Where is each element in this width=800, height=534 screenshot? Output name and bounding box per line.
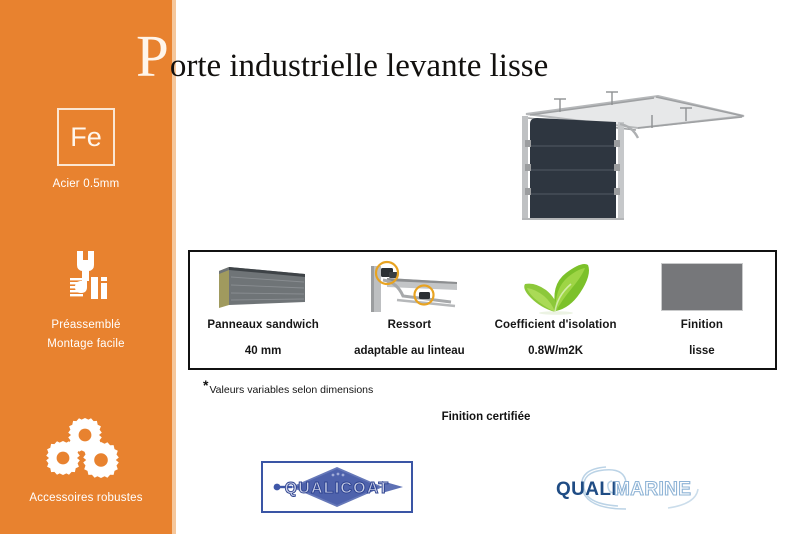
qualicoat-logo: QUALICOAT <box>261 461 413 513</box>
page-title-initial: P <box>136 28 169 84</box>
qualimarine-logo: QUALI MARINE <box>548 466 714 512</box>
qualimarine-word-2: MARINE <box>614 479 691 500</box>
sidebar-feature-steel-label: Acier 0.5mm <box>0 175 172 194</box>
sidebar-feature-preassembled-label-2: Montage facile <box>0 335 172 354</box>
color-swatch-icon <box>661 256 743 318</box>
spec-cell-insulation: Coefficient d'isolation 0.8W/m2K <box>483 252 629 368</box>
fe-steel-square-icon: Fe <box>0 108 172 166</box>
sidebar-feature-preassembled: Préassemblé Montage facile <box>0 245 172 354</box>
page-title: P orte industrielle levante lisse <box>136 28 548 88</box>
certification-caption: Finition certifiée <box>0 411 800 423</box>
spec-title-panel: Panneaux sandwich <box>207 319 319 331</box>
specification-box: Panneaux sandwich 40 mm <box>188 250 777 370</box>
spec-value-spring: adaptable au linteau <box>354 345 465 357</box>
sidebar-feature-accessories-label: Accessoires robustes <box>0 489 172 508</box>
footnote-text: Valeurs variables selon dimensions <box>209 384 373 396</box>
spec-value-panel: 40 mm <box>245 345 281 357</box>
gears-icon <box>0 418 172 480</box>
spec-value-insulation: 0.8W/m2K <box>528 345 583 357</box>
garage-door-photo <box>508 88 758 230</box>
spec-cell-finish: Finition lisse <box>629 252 775 368</box>
sandwich-panel-image <box>213 256 313 318</box>
sidebar-feature-accessories: Accessoires robustes <box>0 418 172 508</box>
wrench-screw-icon <box>0 245 172 307</box>
spec-title-finish: Finition <box>681 319 723 331</box>
product-datasheet-page: Fe Acier 0.5mm <box>0 0 800 534</box>
spec-title-insulation: Coefficient d'isolation <box>495 319 617 331</box>
page-title-text: orte industrielle levante lisse <box>170 38 548 94</box>
svg-text:QUALICOAT: QUALICOAT <box>285 480 390 497</box>
sidebar-feature-preassembled-label-1: Préassemblé <box>0 316 172 335</box>
spec-title-spring: Ressort <box>388 319 432 331</box>
finish-color-swatch <box>661 263 743 311</box>
spring-rail-hardware-image <box>357 256 461 318</box>
footnote: * Valeurs variables selon dimensions <box>203 380 373 396</box>
green-leaves-icon <box>510 256 602 318</box>
footnote-asterisk: * <box>203 380 208 390</box>
spec-cell-panel: Panneaux sandwich 40 mm <box>190 252 336 368</box>
sidebar-feature-steel: Fe Acier 0.5mm <box>0 108 172 194</box>
spec-cell-spring: Ressort adaptable au linteau <box>336 252 482 368</box>
fe-symbol: Fe <box>57 108 115 166</box>
spec-value-finish: lisse <box>689 345 715 357</box>
qualimarine-word-1: QUALI <box>556 479 617 500</box>
